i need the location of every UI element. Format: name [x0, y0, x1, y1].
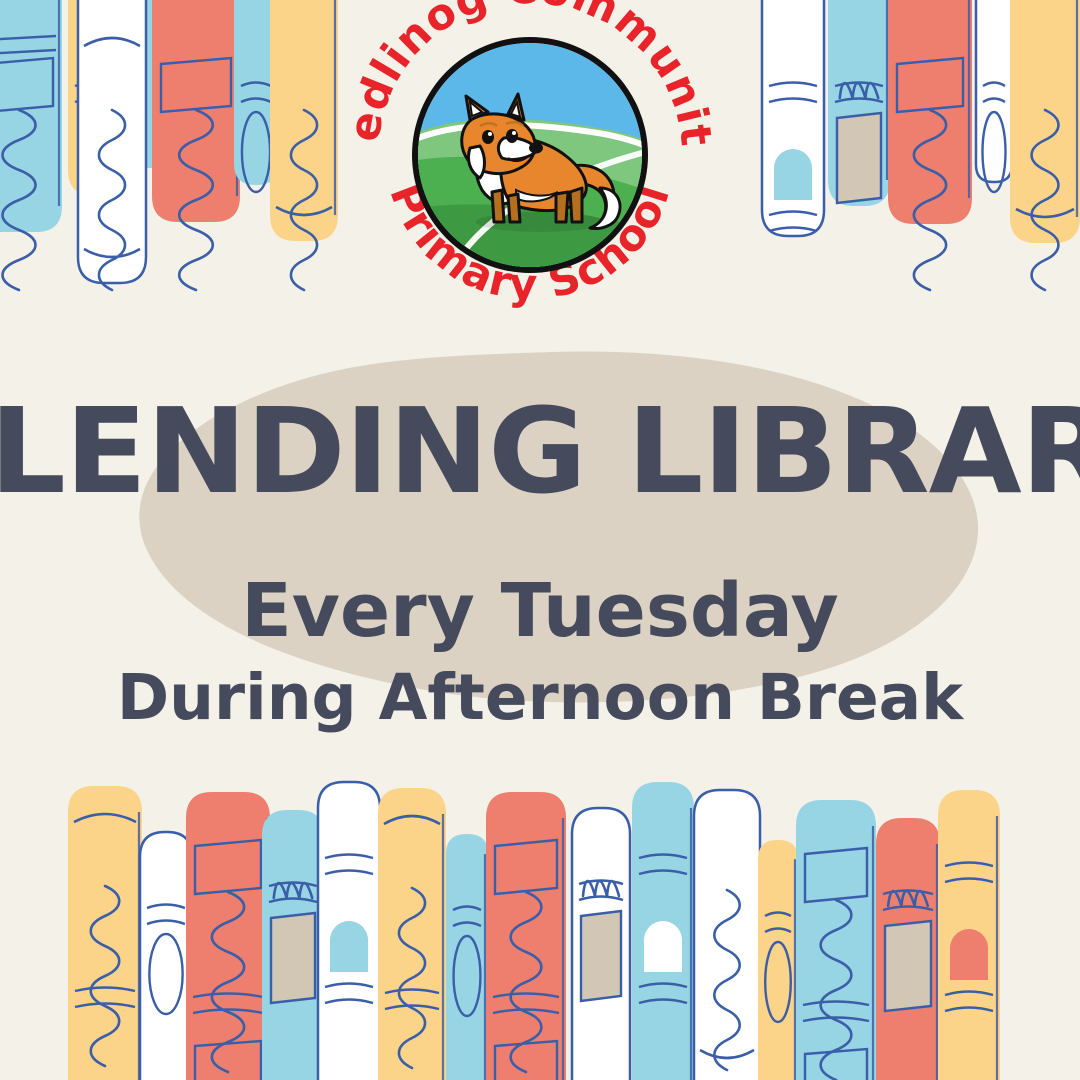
- book-spine: [694, 790, 760, 1080]
- book-spine: [938, 790, 1000, 1080]
- book-spine: [486, 792, 566, 1080]
- book-spine: [68, 786, 142, 1080]
- book-spine: [186, 792, 270, 1080]
- book-spine: [632, 782, 694, 1080]
- book-spine: [572, 808, 630, 1080]
- book-spine: [876, 818, 940, 1080]
- poster-canvas: Bedlinog Community Primary School: [0, 0, 1080, 1080]
- book-spine: [318, 782, 380, 1080]
- book-spine: [796, 800, 876, 1080]
- book-spine: [446, 834, 488, 1080]
- book-spine: [378, 788, 446, 1080]
- book-spine: [140, 832, 192, 1080]
- book-spine: [758, 840, 798, 1080]
- book-spine: [262, 810, 324, 1080]
- books-bottom-row: [0, 0, 1080, 1080]
